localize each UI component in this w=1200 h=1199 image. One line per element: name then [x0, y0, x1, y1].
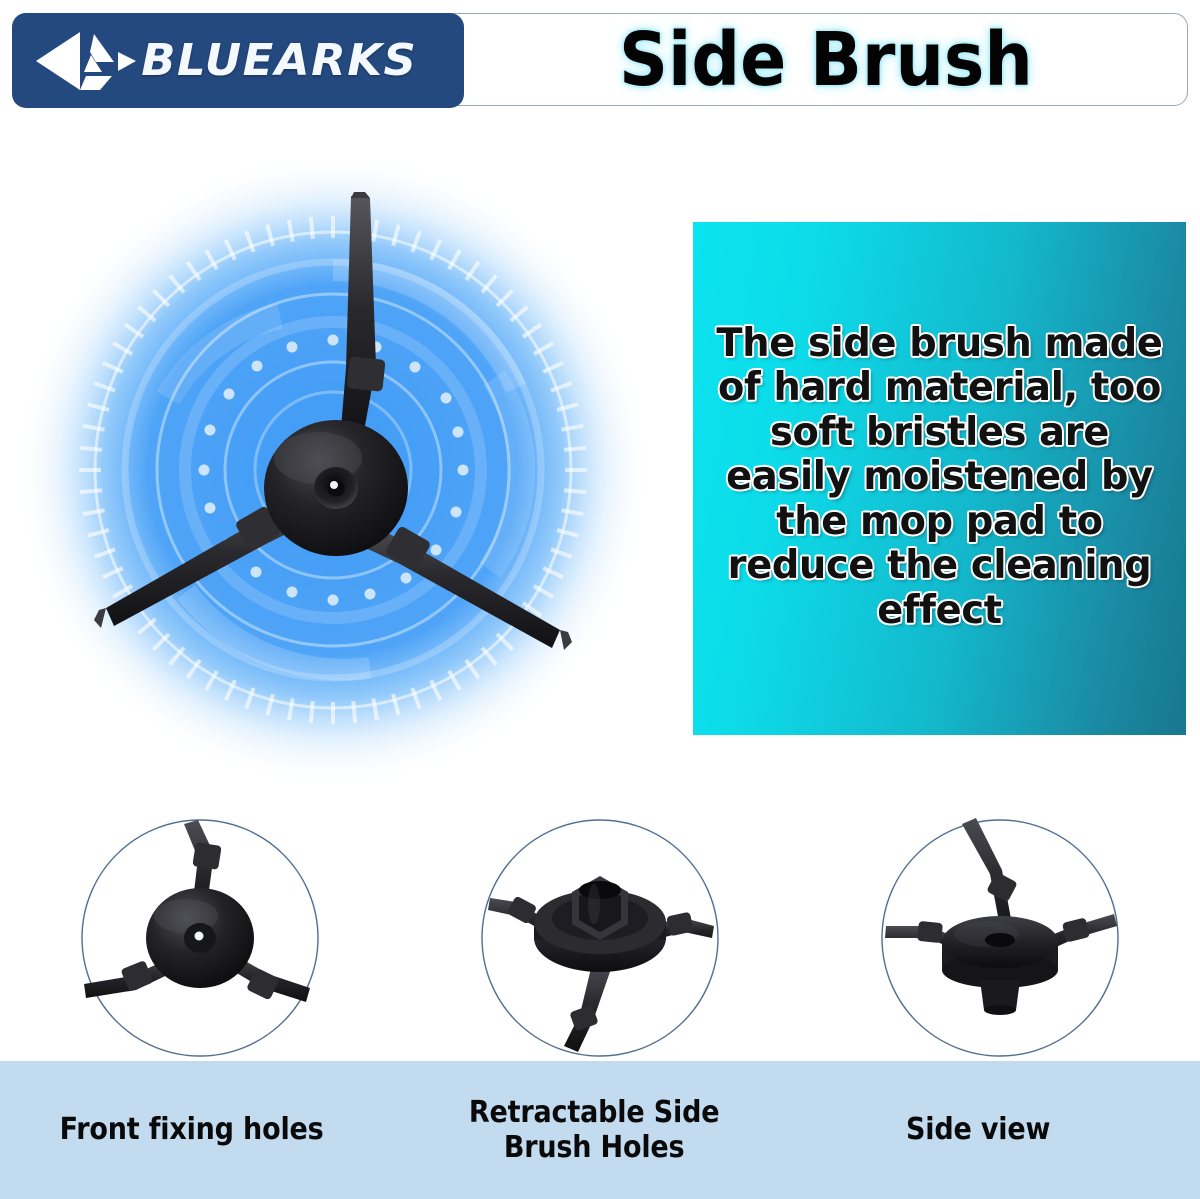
page-title: Side Brush	[465, 14, 1187, 105]
thumbnail-row	[0, 812, 1200, 1064]
caption-text-3: Side view	[906, 1112, 1050, 1147]
brand-wordmark: BLUEARKS	[141, 39, 417, 83]
brush-hub	[264, 420, 408, 556]
feature-text-panel: The side brush made of hard material, to…	[693, 222, 1186, 735]
thumbnail-retractable-side-brush-holes[interactable]	[400, 812, 800, 1064]
brush-arm-joint-top	[346, 356, 385, 392]
caption-retractable-side-brush-holes: Retractable SideBrush Holes	[402, 1061, 786, 1199]
center-hole	[985, 933, 1015, 947]
bluearks-arrow-a-logo-icon	[34, 28, 138, 94]
brand-logo-pill: BLUEARKS	[12, 13, 464, 108]
caption-text-1: Front fixing holes	[60, 1112, 324, 1147]
feature-text: The side brush made of hard material, to…	[714, 321, 1165, 632]
caption-text-2: Retractable SideBrush Holes	[469, 1095, 719, 1166]
page-title-text: Side Brush	[619, 23, 1033, 97]
thumbnail-side-view[interactable]	[800, 812, 1200, 1064]
caption-side-view: Side view	[786, 1061, 1200, 1199]
caption-text-2-line1: Retractable Side	[469, 1095, 719, 1130]
side-view-illustration	[876, 814, 1124, 1062]
hero-illustration	[18, 140, 678, 820]
retractable-side-brush-holes-illustration	[476, 814, 724, 1062]
thumbnail-front-fixing-holes[interactable]	[0, 812, 400, 1064]
caption-band: Front fixing holes Retractable SideBrush…	[0, 1061, 1200, 1199]
header-bar: BLUEARKS Side Brush	[12, 13, 1188, 106]
front-fixing-holes-illustration	[76, 814, 324, 1062]
hero-product-image	[18, 140, 678, 820]
caption-text-2-line2: Brush Holes	[504, 1130, 685, 1165]
caption-front-fixing-holes: Front fixing holes	[0, 1061, 402, 1199]
